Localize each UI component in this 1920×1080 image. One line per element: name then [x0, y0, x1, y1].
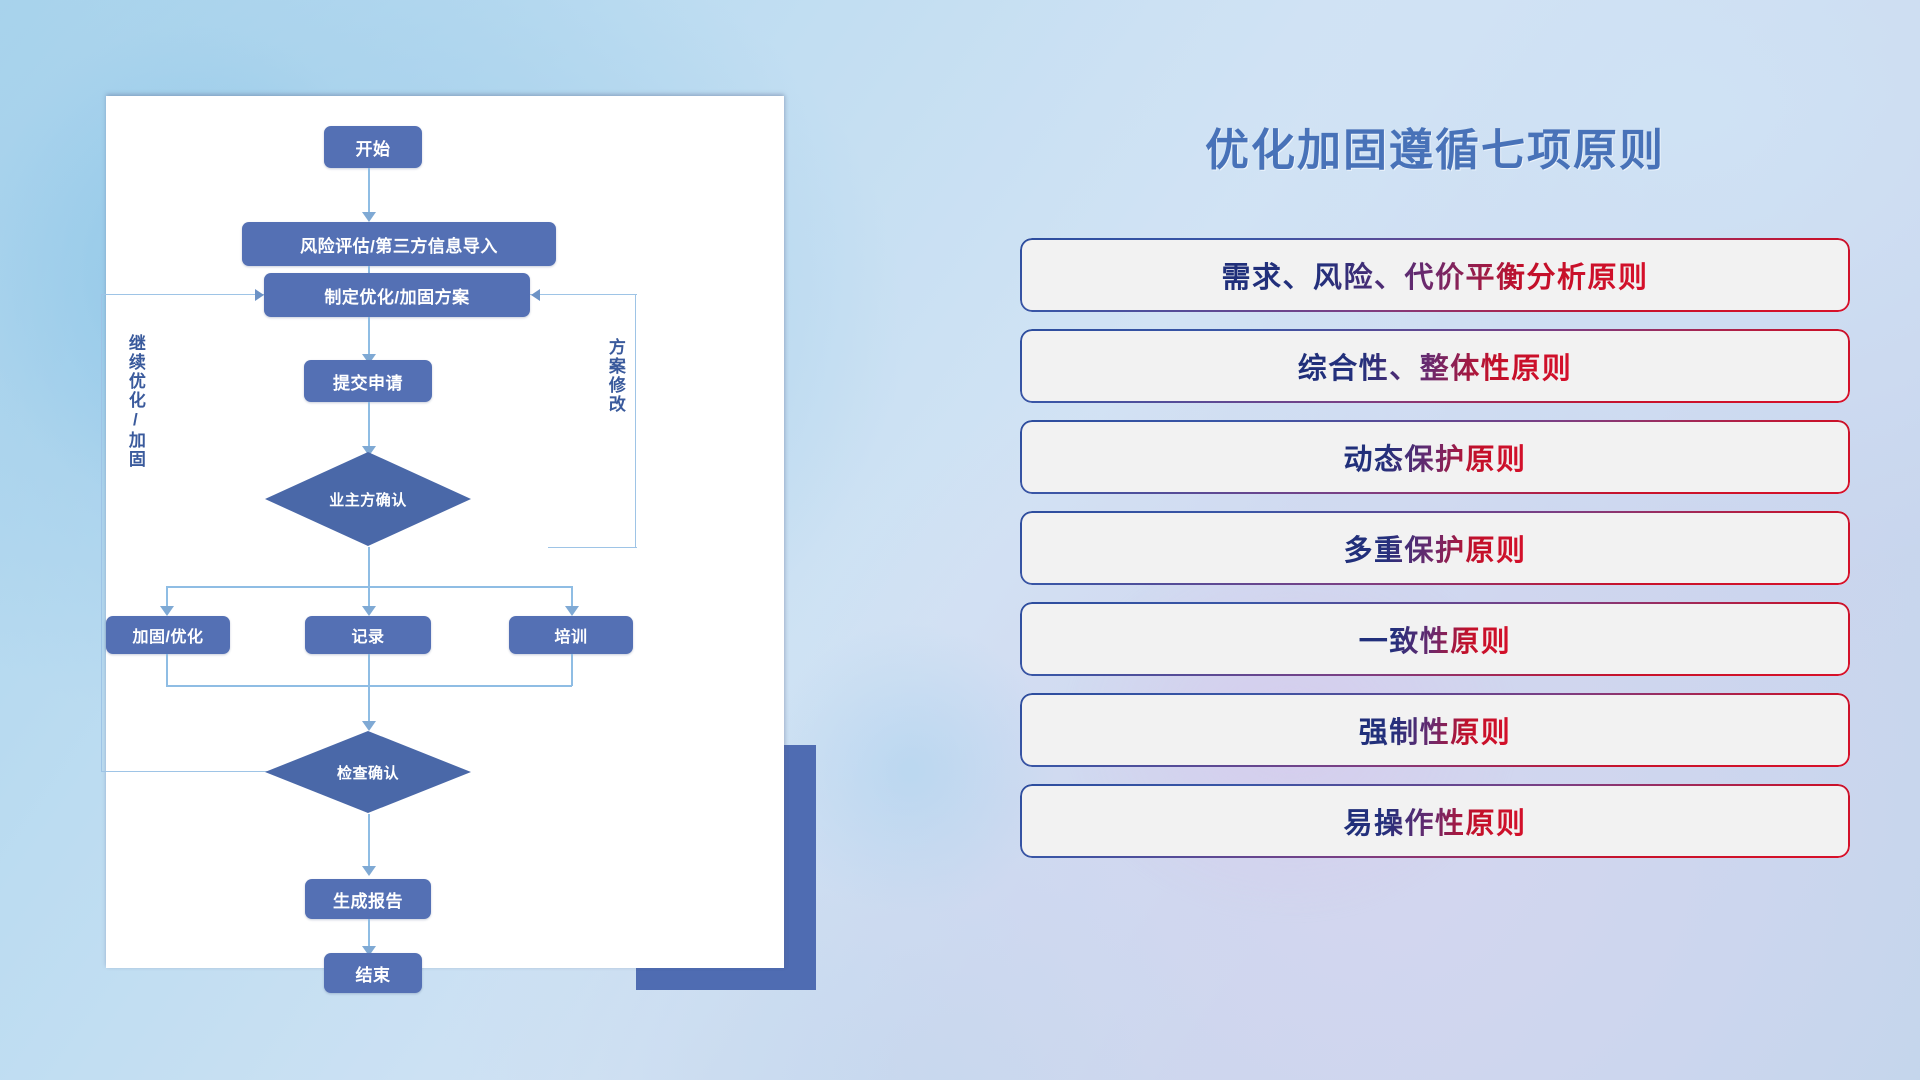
- flow-node-start[interactable]: 开始: [324, 126, 422, 168]
- arrowhead-branch-right: [565, 606, 579, 616]
- connector-merge-to-check: [368, 654, 370, 728]
- connector-owner-down: [368, 547, 370, 587]
- principle-item-4[interactable]: 多重保护原则: [1020, 511, 1850, 585]
- flow-node-training-label: 培训: [554, 623, 587, 647]
- flow-node-reinforce[interactable]: 加固/优化: [106, 616, 230, 654]
- principle-item-2-label: 综合性、整体性原则: [1298, 345, 1573, 387]
- flow-node-start-label: 开始: [356, 135, 391, 160]
- flow-node-record[interactable]: 记录: [305, 616, 431, 654]
- loop-frame-left: [101, 294, 102, 772]
- flow-node-reinforce-label: 加固/优化: [133, 623, 204, 647]
- flow-node-report-label: 生成报告: [333, 887, 403, 912]
- principle-item-3[interactable]: 动态保护原则: [1020, 420, 1850, 494]
- flow-node-risk-assessment-label: 风险评估/第三方信息导入: [300, 232, 498, 257]
- flow-node-end-label: 结束: [356, 961, 391, 986]
- flow-edge-label-plan-revision: 方案修改: [606, 338, 624, 478]
- flow-node-end[interactable]: 结束: [324, 953, 422, 993]
- flow-node-check-confirm[interactable]: 检查确认: [264, 730, 472, 814]
- flow-node-owner-confirm-label: 业主方确认: [264, 451, 472, 547]
- flowchart-card: 开始 风险评估/第三方信息导入 制定优化/加固方案 提交申请 业主方确认 加固/…: [106, 96, 784, 968]
- principles-list: 需求、风险、代价平衡分析原则 综合性、整体性原则 动态保护原则 多重保护原则 一…: [1020, 238, 1850, 875]
- flow-node-submit-label: 提交申请: [333, 369, 403, 394]
- flow-node-risk-assessment[interactable]: 风险评估/第三方信息导入: [242, 222, 556, 266]
- principles-panel: 优化加固遵循七项原则 需求、风险、代价平衡分析原则 综合性、整体性原则 动态保护…: [1020, 96, 1850, 996]
- principle-item-1[interactable]: 需求、风险、代价平衡分析原则: [1020, 238, 1850, 312]
- arrowhead-branch-mid: [362, 606, 376, 616]
- loop-frame-right-bottom: [548, 547, 637, 548]
- flow-node-plan-label: 制定优化/加固方案: [324, 283, 469, 308]
- principle-item-7-label: 易操作性原则: [1343, 800, 1526, 842]
- principle-item-3-label: 动态保护原则: [1343, 436, 1526, 478]
- principle-item-2[interactable]: 综合性、整体性原则: [1020, 329, 1850, 403]
- flow-node-submit[interactable]: 提交申请: [304, 360, 432, 402]
- arrowhead-start-to-risk: [362, 212, 376, 222]
- arrowhead-check-to-report: [362, 866, 376, 876]
- principle-item-5-label: 一致性原则: [1359, 618, 1512, 660]
- flow-node-check-confirm-label: 检查确认: [264, 730, 472, 814]
- principles-title: 优化加固遵循七项原则: [1020, 114, 1850, 178]
- flow-node-record-label: 记录: [351, 623, 384, 647]
- flow-node-training[interactable]: 培训: [509, 616, 633, 654]
- flow-edge-label-continue-loop: 继续优化/加固: [126, 334, 144, 514]
- arrowhead-branch-left: [160, 606, 174, 616]
- arrowhead-revision-into-plan: [531, 289, 540, 301]
- principle-item-1-label: 需求、风险、代价平衡分析原则: [1221, 254, 1648, 296]
- flow-node-report[interactable]: 生成报告: [305, 879, 431, 919]
- principle-item-6[interactable]: 强制性原则: [1020, 693, 1850, 767]
- arrowhead-loop-into-plan: [255, 289, 264, 301]
- flow-node-owner-confirm[interactable]: 业主方确认: [264, 451, 472, 547]
- connector-check-to-report: [368, 814, 370, 874]
- principle-item-4-label: 多重保护原则: [1343, 527, 1526, 569]
- connector-training-down: [571, 654, 573, 686]
- connector-start-to-risk: [368, 168, 370, 216]
- principle-item-5[interactable]: 一致性原则: [1020, 602, 1850, 676]
- principle-item-7[interactable]: 易操作性原则: [1020, 784, 1850, 858]
- loop-frame-right: [635, 294, 636, 548]
- principle-item-6-label: 强制性原则: [1359, 709, 1512, 751]
- flow-node-plan[interactable]: 制定优化/加固方案: [264, 273, 530, 317]
- connector-reinforce-down: [166, 654, 168, 686]
